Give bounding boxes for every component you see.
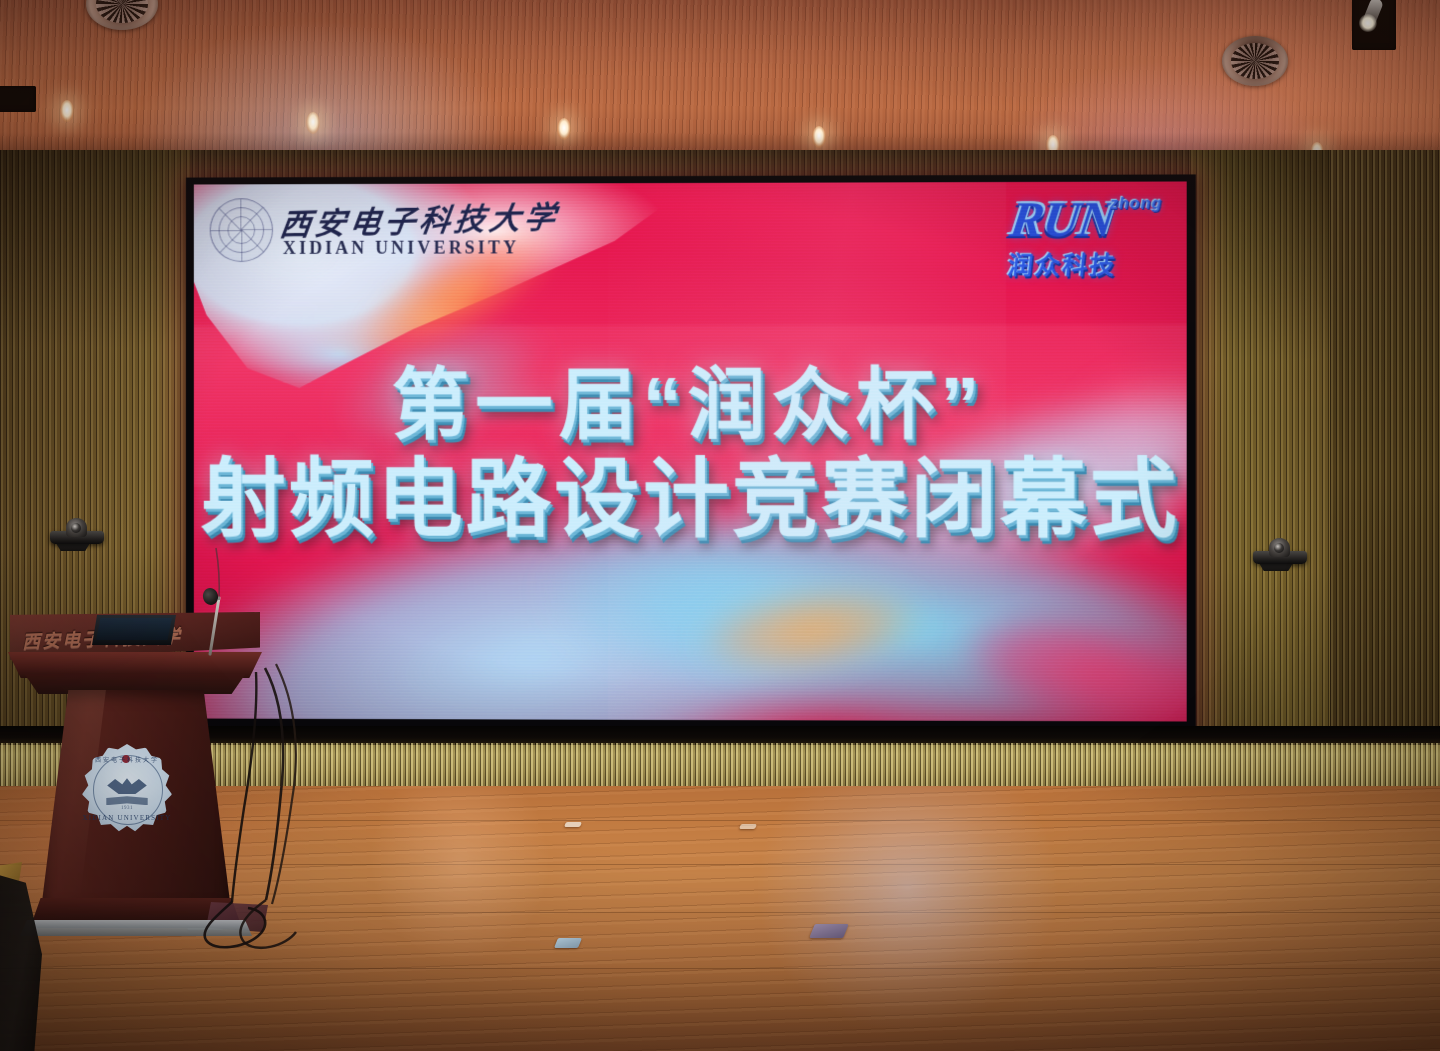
speaker-monitor-screen — [96, 618, 172, 640]
ceiling-downlight-icon — [306, 112, 320, 134]
led-screen-frame: 西安电子科技大学 XIDIAN UNIVERSITY RUN zhong 润众科… — [186, 174, 1196, 730]
led-pixel-scanlines — [194, 181, 1187, 721]
led-screen: 西安电子科技大学 XIDIAN UNIVERSITY RUN zhong 润众科… — [194, 181, 1187, 721]
emblem-year: 1931 — [82, 806, 172, 811]
auditorium-photo: 西安电子科技大学 XIDIAN UNIVERSITY RUN zhong 润众科… — [0, 0, 1440, 1051]
ceiling-vent-icon — [1222, 36, 1288, 86]
wall-camera-right — [1253, 538, 1307, 564]
podium-plinth — [20, 920, 252, 936]
wall-camera-left — [50, 518, 104, 544]
ceiling-downlight-icon — [60, 100, 74, 122]
emblem-chinese-text: 西安电子科技大学 — [82, 755, 172, 764]
emblem-english-text: XIDIAN UNIVERSITY — [82, 814, 172, 822]
ceiling-light-slot — [0, 86, 36, 112]
podium-emblem-icon: 西安电子科技大学 1931 XIDIAN UNIVERSITY — [82, 744, 172, 834]
